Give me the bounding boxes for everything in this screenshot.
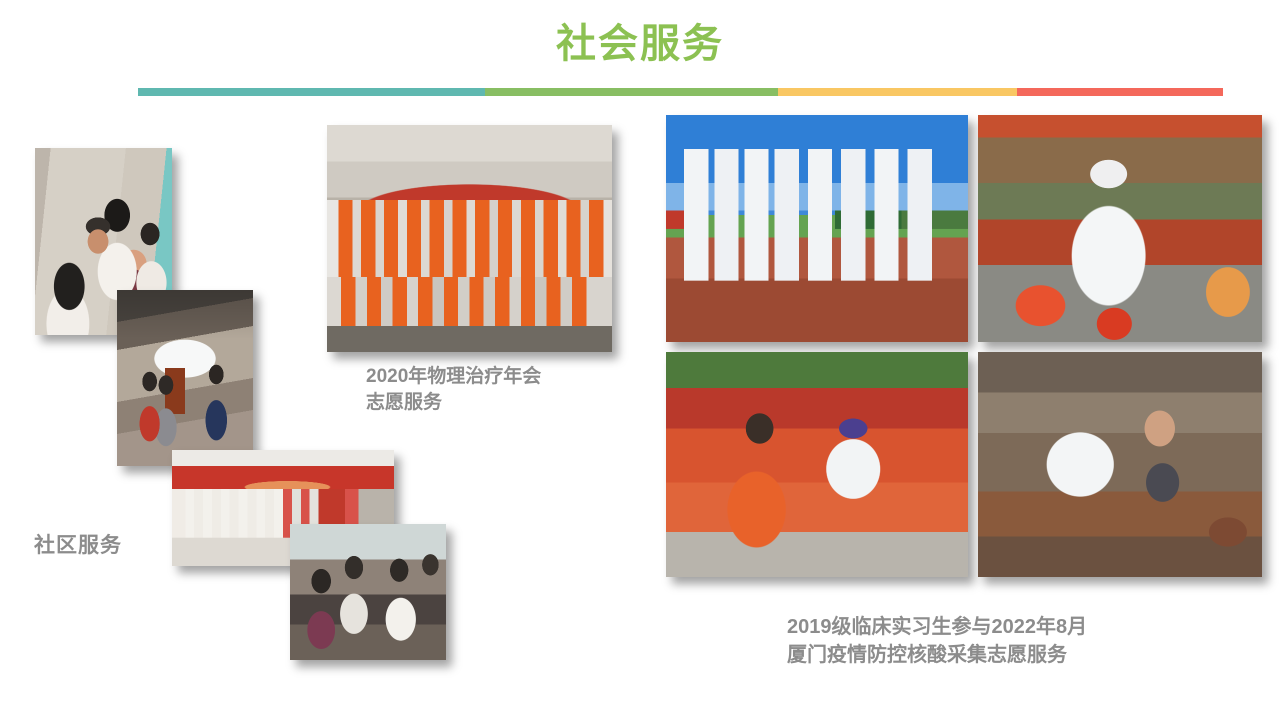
photo-pt-annual-meeting-image (327, 125, 612, 352)
photo-hazmat-crew-cheer (666, 115, 968, 342)
divider-segment-green (485, 88, 778, 96)
accent-divider (138, 88, 1223, 96)
right-caption: 2019级临床实习生参与2022年8月 厦门疫情防控核酸采集志愿服务 (787, 614, 1087, 669)
photo-pt-annual-meeting (327, 125, 612, 352)
photo-swab-station (666, 352, 968, 577)
center-caption: 2020年物理治疗年会 志愿服务 (366, 364, 541, 416)
photo-swab-station-image (666, 352, 968, 577)
photo-hazmat-crew-cheer-image (666, 115, 968, 342)
slide-canvas: 社会服务 社区服务 2020年物理治疗年会 志愿服务 2019级临床实习生参与2… (0, 0, 1280, 720)
photo-community-clinic (290, 524, 446, 660)
divider-segment-teal (138, 88, 485, 96)
photo-community-clinic-image (290, 524, 446, 660)
divider-segment-yellow (778, 88, 1017, 96)
page-title: 社会服务 (0, 22, 1280, 66)
photo-registration-desk (978, 115, 1262, 342)
photo-flag-pennant-image (117, 290, 253, 466)
photo-registration-desk-image (978, 115, 1262, 342)
divider-segment-red (1017, 88, 1223, 96)
photo-flag-pennant (117, 290, 253, 466)
photo-home-visit-swab (978, 352, 1262, 577)
left-cluster-label: 社区服务 (34, 529, 122, 559)
photo-home-visit-swab-image (978, 352, 1262, 577)
